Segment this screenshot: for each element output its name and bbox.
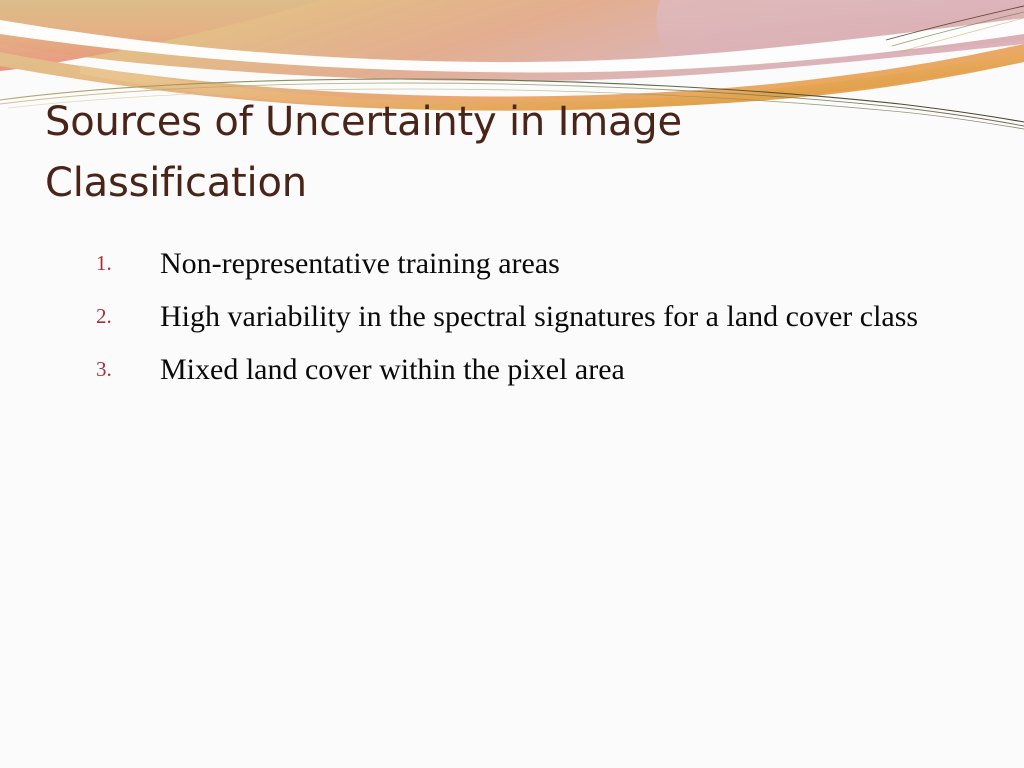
wave-pink-wedge (656, 0, 1024, 62)
list-item-number: 3. (88, 344, 160, 395)
wave-base-band (0, 0, 1024, 81)
list-item-number: 1. (88, 238, 160, 289)
list-item: 2. High variability in the spectral sign… (88, 291, 1018, 342)
list-item: 3. Mixed land cover within the pixel are… (88, 344, 1018, 395)
wave-white-swoosh-upper (0, 18, 1024, 72)
title-block: Sources of Uncertainty in Image Classifi… (45, 92, 805, 214)
list-item-label: Mixed land cover within the pixel area (160, 344, 1018, 395)
wave-hairline-corner-1 (886, 6, 1024, 40)
wave-left-glow (0, 0, 320, 71)
wave-hairline-corner-2 (892, 12, 1024, 46)
list-item-number: 2. (88, 291, 160, 342)
page-title: Sources of Uncertainty in Image Classifi… (45, 92, 805, 214)
list-item-label: Non-representative training areas (160, 238, 1018, 289)
numbered-list: 1. Non-representative training areas 2. … (48, 238, 1018, 397)
list-item-label: High variability in the spectral signatu… (160, 291, 1018, 342)
slide-canvas: Sources of Uncertainty in Image Classifi… (0, 0, 1024, 768)
wave-hairline-corner-3 (900, 18, 1024, 52)
list-item: 1. Non-representative training areas (88, 238, 1018, 289)
